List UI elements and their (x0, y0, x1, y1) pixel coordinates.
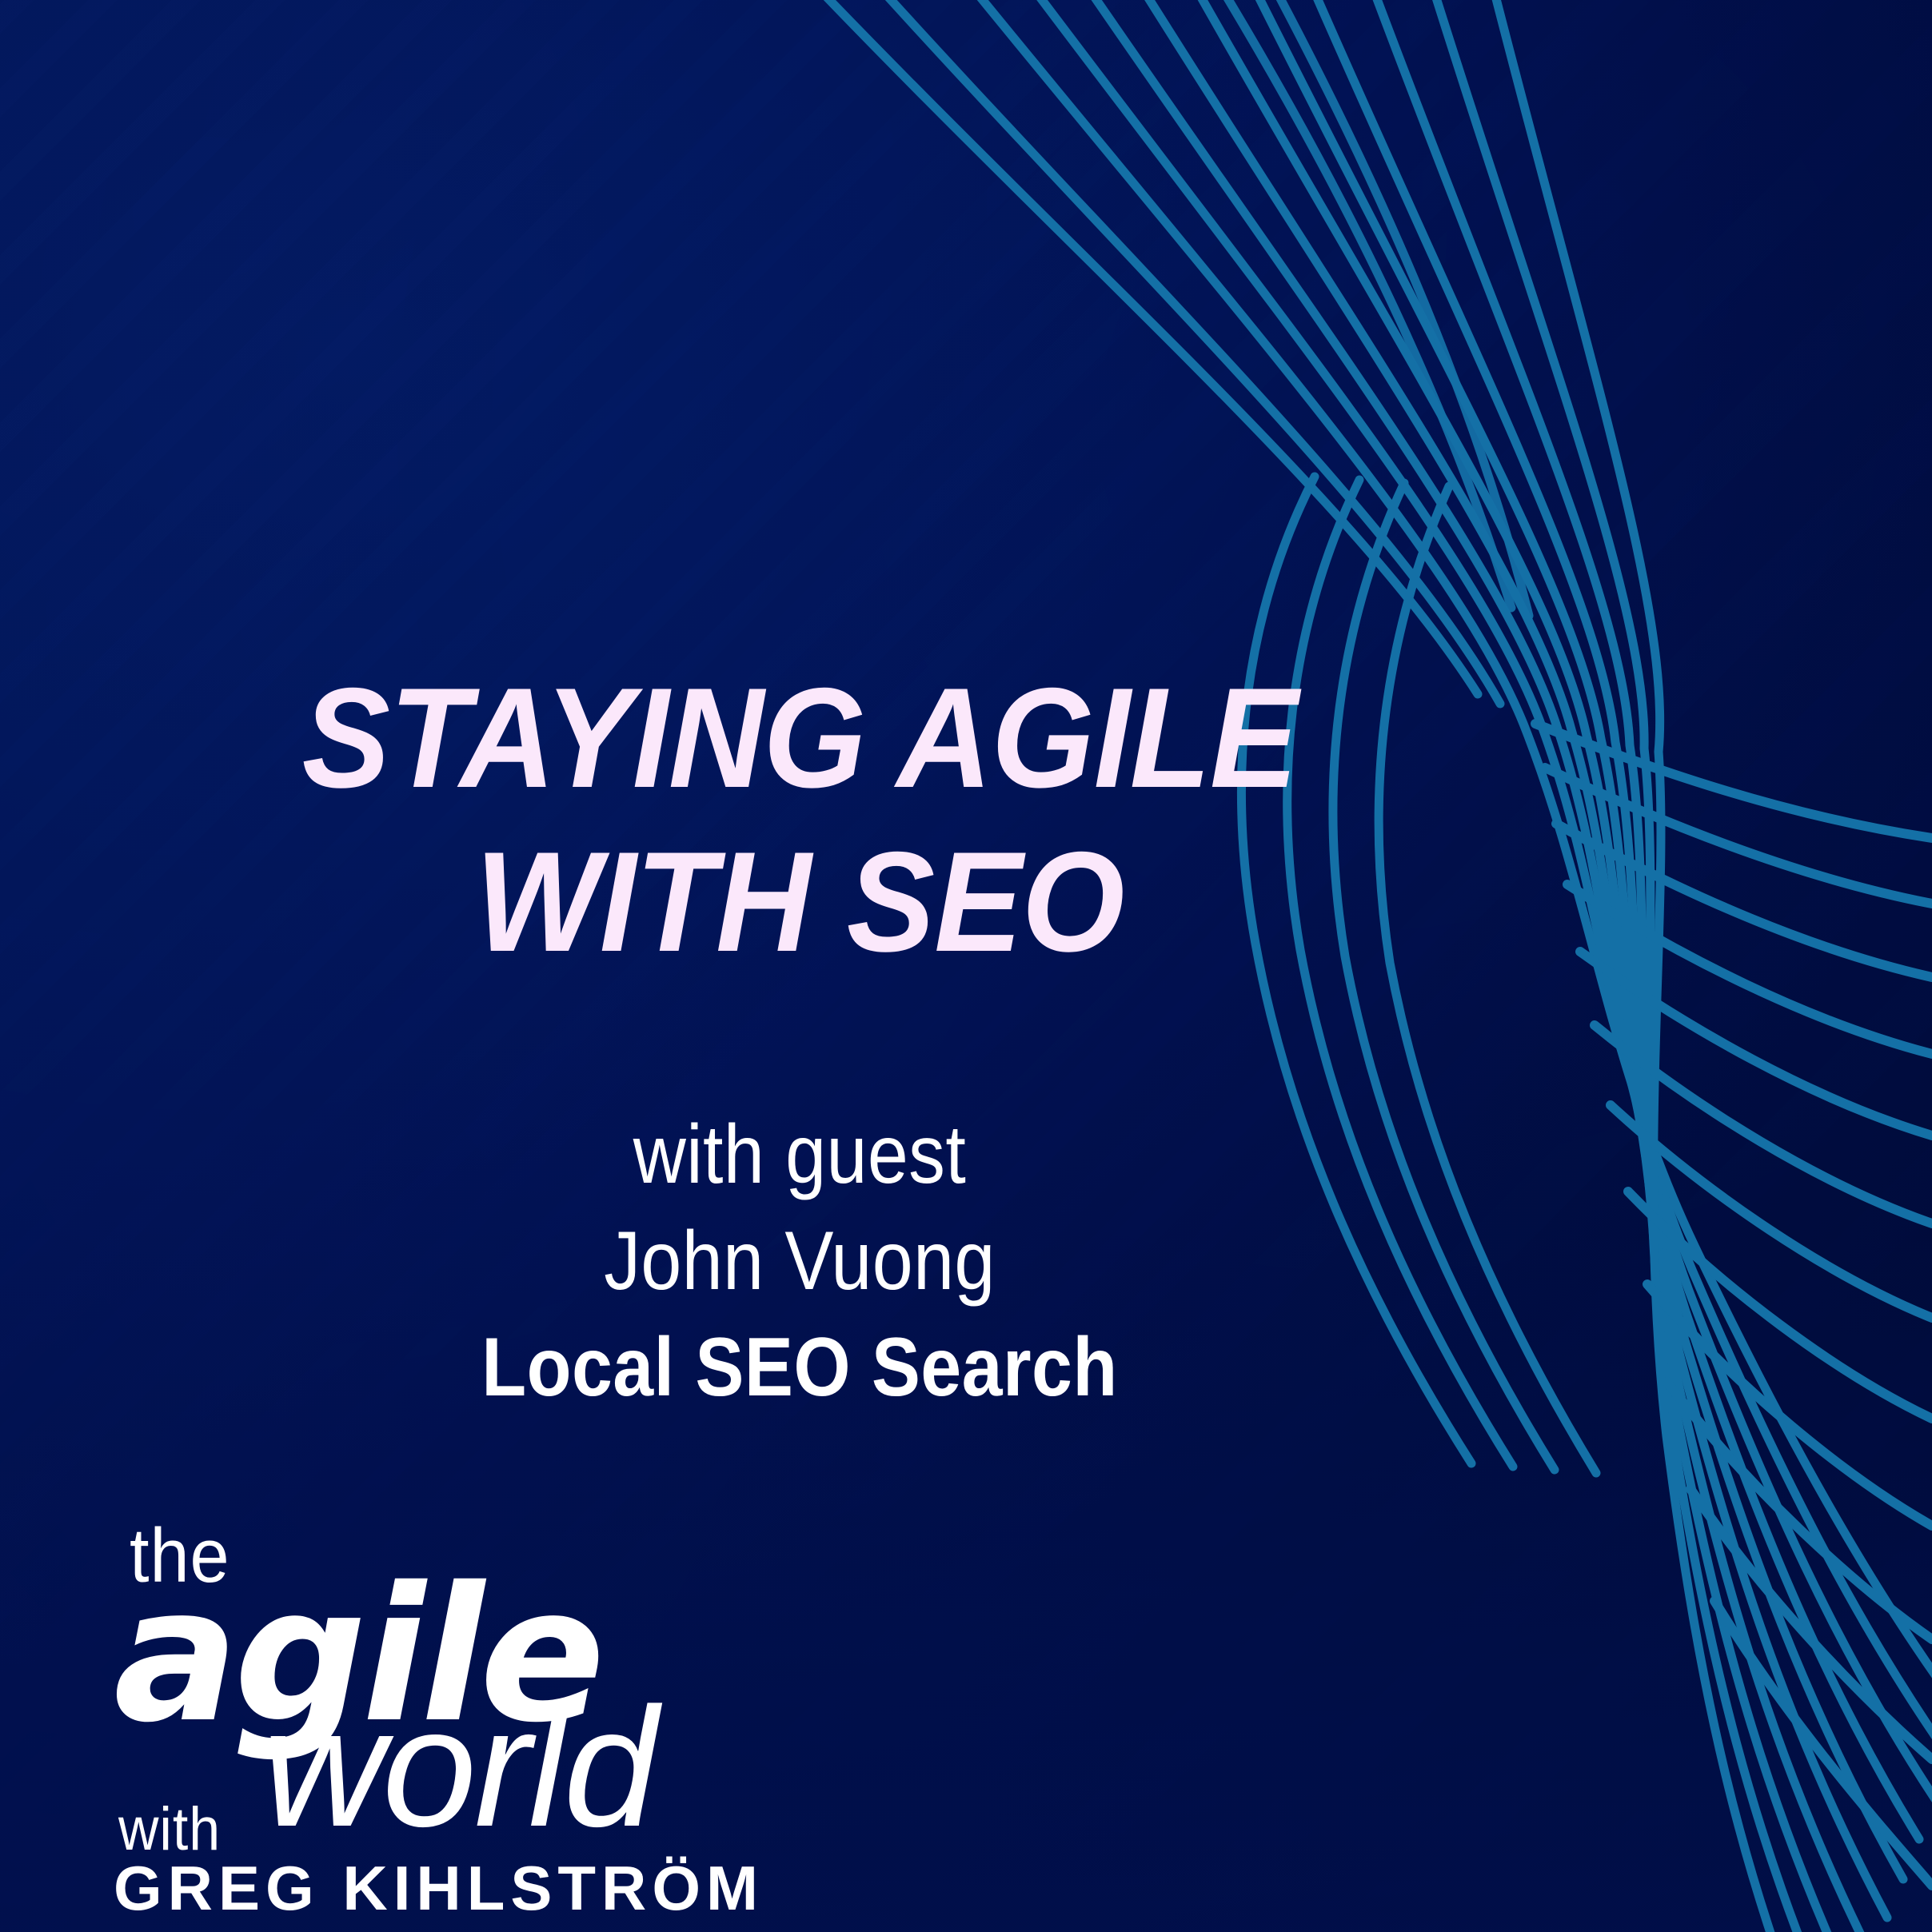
episode-title-line-1: STAYING AGILE (56, 670, 1543, 805)
guest-credit: with guest John Vuong Local SEO Search (0, 1102, 1599, 1421)
logo-host-name: GREG KIHLSTRÖM (114, 1857, 764, 1919)
guest-intro: with guest (96, 1102, 1503, 1208)
logo-word-world: world (262, 1683, 656, 1852)
show-logo: the agile world with GREG KIHLSTRÖM (114, 1518, 673, 1894)
episode-title-line-2: WITH SEO (56, 834, 1543, 969)
guest-name: John Vuong (96, 1208, 1503, 1315)
guest-company: Local SEO Search (96, 1315, 1503, 1421)
episode-title: STAYING AGILE WITH SEO (56, 670, 1543, 969)
podcast-cover-art: STAYING AGILE WITH SEO with guest John V… (0, 0, 1932, 1932)
logo-word-with: with (118, 1799, 221, 1860)
